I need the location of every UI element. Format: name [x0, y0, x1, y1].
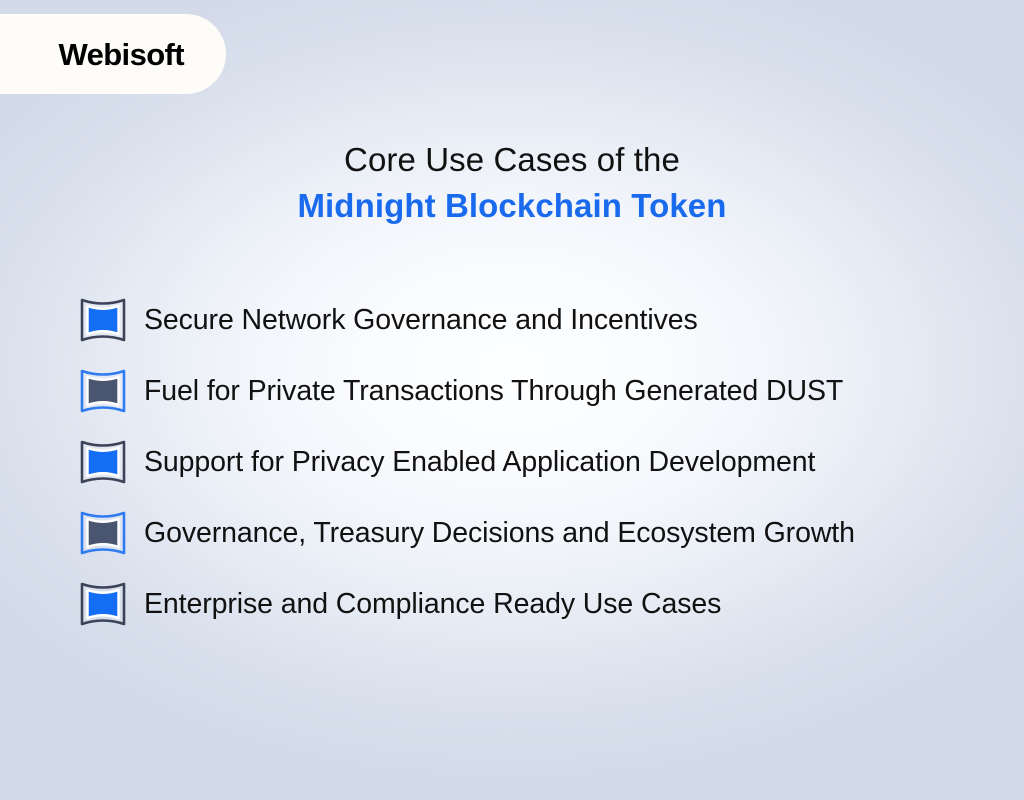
page-title-line-1: Core Use Cases of the — [0, 138, 1024, 182]
list-item: Fuel for Private Transactions Through Ge… — [78, 365, 1024, 417]
use-case-label: Enterprise and Compliance Ready Use Case… — [144, 587, 721, 621]
use-case-label: Governance, Treasury Decisions and Ecosy… — [144, 516, 855, 550]
use-case-label: Secure Network Governance and Incentives — [144, 303, 698, 337]
hexagon-badge-blue-icon — [78, 437, 128, 487]
list-item: Governance, Treasury Decisions and Ecosy… — [78, 507, 1024, 559]
hexagon-badge-slate-icon — [78, 508, 128, 558]
list-item: Enterprise and Compliance Ready Use Case… — [78, 578, 1024, 630]
hexagon-badge-blue-icon — [78, 579, 128, 629]
list-item: Secure Network Governance and Incentives — [78, 294, 1024, 346]
use-case-label: Support for Privacy Enabled Application … — [144, 445, 815, 479]
list-item: Support for Privacy Enabled Application … — [78, 436, 1024, 488]
slide-canvas: Webisoft Core Use Cases of the Midnight … — [0, 0, 1024, 800]
brand-logo-text: Webisoft — [58, 39, 184, 70]
hexagon-badge-slate-icon — [78, 366, 128, 416]
brand-logo-badge: Webisoft — [0, 14, 226, 94]
use-case-list: Secure Network Governance and Incentives… — [78, 294, 1024, 649]
use-case-label: Fuel for Private Transactions Through Ge… — [144, 374, 843, 408]
page-title: Core Use Cases of the Midnight Blockchai… — [0, 138, 1024, 228]
hexagon-badge-blue-icon — [78, 295, 128, 345]
page-title-line-2: Midnight Blockchain Token — [0, 184, 1024, 228]
